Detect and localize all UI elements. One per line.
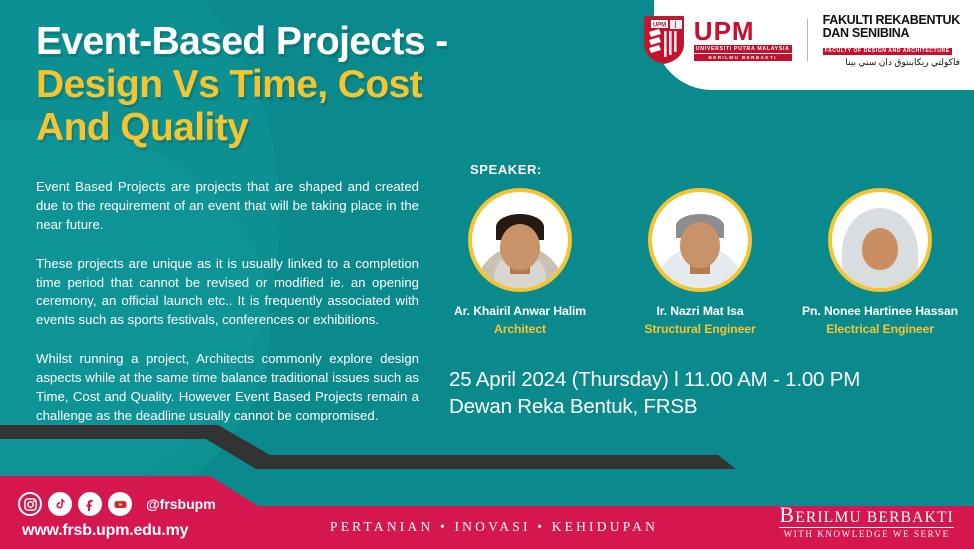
upm-wordmark: UPM UNIVERSITI PUTRA MALAYSIA BERILMU BE… <box>694 20 792 61</box>
faculty-name-jawi: فاكولتي ريكابنتوق دان سني بينا <box>823 58 960 67</box>
speaker-section-label: SPEAKER: <box>470 162 542 177</box>
speaker-card-1: Ar. Khairil Anwar Halim Architect <box>430 188 610 336</box>
description-block: Event Based Projects are projects that a… <box>36 178 419 426</box>
motto-cap: B <box>779 502 795 527</box>
speaker-card-2: Ir. Nazri Mat Isa Structural Engineer <box>610 188 790 336</box>
title-line-2: Design Vs Time, Cost <box>36 65 656 104</box>
faculty-name-english: FACULTY OF DESIGN AND ARCHITECTURE <box>823 48 952 55</box>
speaker-name-1: Ar. Khairil Anwar Halim <box>454 304 586 319</box>
speaker-name-2: Ir. Nazri Mat Isa <box>656 304 743 319</box>
event-poster: UPM UPM UNIVERSITI PUTRA MALAYSIA BE <box>0 0 974 549</box>
event-details: 25 April 2024 (Thursday) l 11.00 AM - 1.… <box>449 366 860 421</box>
faculty-wordmark: FAKULTI REKABENTUK DAN SENIBINA FACULTY … <box>823 14 960 67</box>
motto-subtitle: WITH KNOWLEDGE WE SERVE <box>779 527 954 539</box>
upm-frsb-logo: UPM UPM UNIVERSITI PUTRA MALAYSIA BE <box>642 14 960 67</box>
speaker-avatar-2 <box>648 188 752 292</box>
website-url[interactable]: www.frsb.upm.edu.my <box>22 522 188 540</box>
description-paragraph-1: Event Based Projects are projects that a… <box>36 178 419 235</box>
speaker-role-1: Architect <box>494 322 546 336</box>
speaker-list: Ar. Khairil Anwar Halim Architect Ir. Na… <box>430 188 970 336</box>
faculty-name-line2: DAN SENIBINA <box>823 27 960 40</box>
event-venue: Dewan Reka Bentuk, FRSB <box>449 393 860 420</box>
social-links[interactable]: @frsbupm <box>18 492 216 516</box>
youtube-icon[interactable] <box>108 492 132 516</box>
logo-divider <box>807 19 808 61</box>
tiktok-icon[interactable] <box>48 492 72 516</box>
title-line-3: And Quality <box>36 108 656 147</box>
faculty-name-line1: FAKULTI REKABENTUK <box>823 14 960 27</box>
speaker-avatar-1 <box>468 188 572 292</box>
motto-main-text: ERILMU BERBAKTI <box>795 509 954 526</box>
upm-motto-lockup: BERILMU BERBAKTI WITH KNOWLEDGE WE SERVE <box>779 504 954 539</box>
speaker-card-3: Pn. Nonee Hartinee Hassan Electrical Eng… <box>790 188 970 336</box>
upm-acronym: UPM <box>694 20 792 43</box>
title-line-1: Event-Based Projects - <box>36 22 656 61</box>
description-paragraph-3: Whilst running a project, Architects com… <box>36 350 419 426</box>
upm-university-name: UNIVERSITI PUTRA MALAYSIA <box>694 45 792 53</box>
speaker-role-2: Structural Engineer <box>644 322 755 336</box>
social-handle: @frsbupm <box>146 496 216 512</box>
speaker-avatar-3 <box>828 188 932 292</box>
poster-title: Event-Based Projects - Design Vs Time, C… <box>36 22 656 147</box>
speaker-name-3: Pn. Nonee Hartinee Hassan <box>802 304 958 319</box>
event-datetime: 25 April 2024 (Thursday) l 11.00 AM - 1.… <box>449 366 860 393</box>
upm-university-motto: BERILMU BERBAKTI <box>694 54 792 61</box>
speaker-role-3: Electrical Engineer <box>826 322 934 336</box>
motto-main: BERILMU BERBAKTI <box>779 504 954 526</box>
description-paragraph-2: These projects are unique as it is usual… <box>36 255 419 331</box>
instagram-icon[interactable] <box>18 492 42 516</box>
facebook-icon[interactable] <box>78 492 102 516</box>
upm-tagline: PERTANIAN • INOVASI • KEHIDUPAN <box>330 519 658 535</box>
